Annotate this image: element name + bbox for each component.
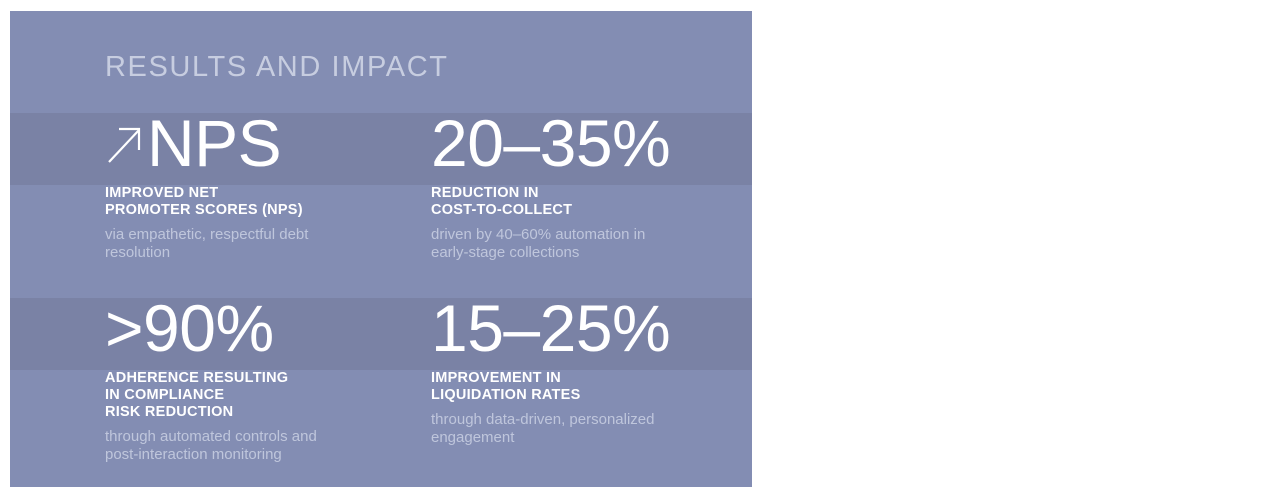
stat-value-wrapper: 20–35% (431, 107, 741, 181)
stat-description: through automated controls and post-inte… (105, 428, 415, 464)
stat-label: IMPROVEMENT IN LIQUIDATION RATES (431, 370, 741, 404)
stat-card-liquidation-rates: 15–25% IMPROVEMENT IN LIQUIDATION RATES … (431, 292, 741, 447)
stat-card-compliance-adherence: >90% ADHERENCE RESULTING IN COMPLIANCE R… (105, 292, 415, 464)
stat-label: ADHERENCE RESULTING IN COMPLIANCE RISK R… (105, 370, 415, 421)
stat-value-text: >90% (105, 295, 274, 362)
arrow-up-right-icon (105, 122, 145, 166)
stat-card-cost-to-collect: 20–35% REDUCTION IN COST-TO-COLLECT driv… (431, 107, 741, 262)
stat-value-wrapper: NPS (105, 107, 415, 181)
stat-label: IMPROVED NET PROMOTER SCORES (NPS) (105, 185, 415, 219)
stat-value-wrapper: 15–25% (431, 292, 741, 366)
stat-label: REDUCTION IN COST-TO-COLLECT (431, 185, 741, 219)
slide-canvas: RESULTS AND IMPACT NPS IMPROVED NET PROM… (0, 0, 1280, 500)
stat-value-text: 20–35% (431, 110, 670, 177)
stat-description: through data-driven, personalized engage… (431, 411, 741, 447)
stat-value-text: NPS (147, 110, 281, 177)
stat-card-nps: NPS IMPROVED NET PROMOTER SCORES (NPS) v… (105, 107, 415, 262)
stats-grid: NPS IMPROVED NET PROMOTER SCORES (NPS) v… (10, 11, 752, 487)
results-impact-panel: RESULTS AND IMPACT NPS IMPROVED NET PROM… (10, 11, 752, 487)
stat-description: via empathetic, respectful debt resoluti… (105, 226, 415, 262)
stat-value-wrapper: >90% (105, 292, 415, 366)
stat-value-text: 15–25% (431, 295, 670, 362)
stat-description: driven by 40–60% automation in early-sta… (431, 226, 741, 262)
